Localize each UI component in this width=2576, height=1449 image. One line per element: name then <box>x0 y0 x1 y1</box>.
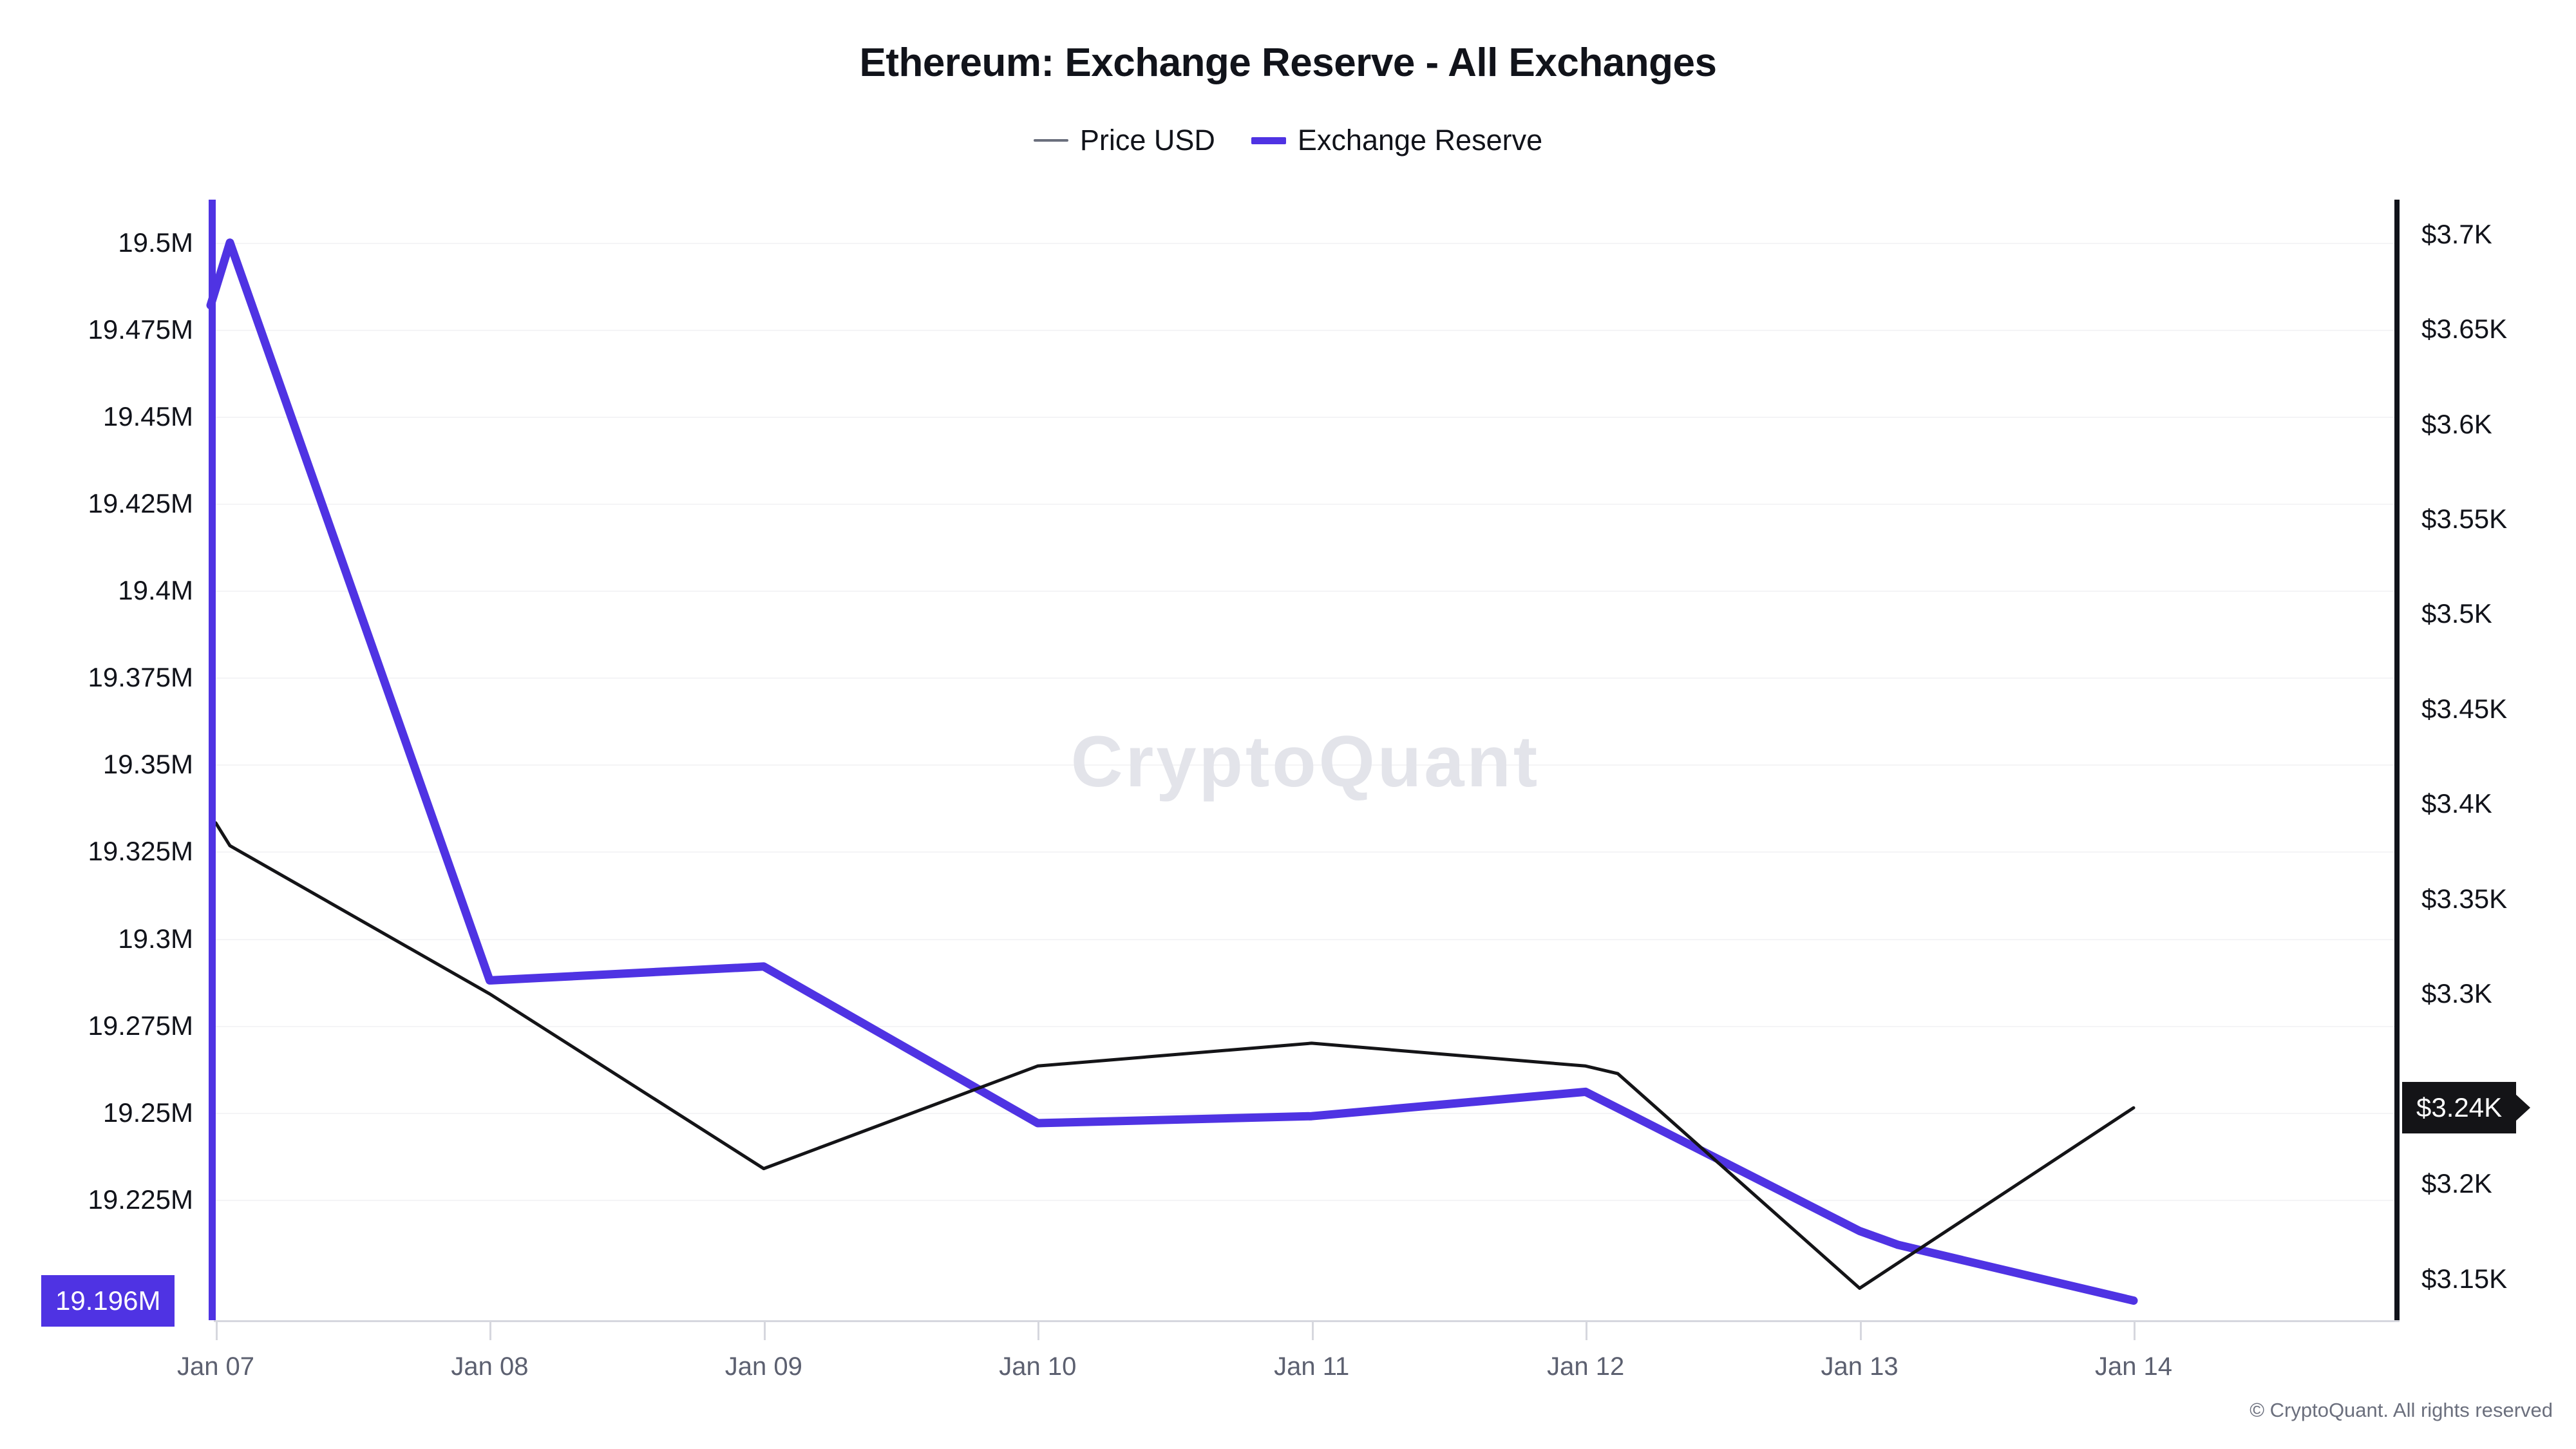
line-dash-icon <box>1034 139 1068 142</box>
y-axis-right-tick-label: $3.15K <box>2421 1264 2507 1294</box>
y-axis-left-tick-label: 19.325M <box>88 836 193 867</box>
x-axis-tick-mark <box>764 1322 766 1340</box>
x-axis-tick-mark <box>2134 1322 2136 1340</box>
y-axis-right-highlight-badge: $3.24K <box>2402 1082 2516 1133</box>
axis-left-line <box>209 200 216 1320</box>
x-axis-tick-label: Jan 08 <box>451 1352 528 1381</box>
axis-bottom-line <box>214 1320 2400 1322</box>
y-axis-right-tick-label: $3.4K <box>2421 788 2492 819</box>
x-axis-tick-mark <box>1037 1322 1039 1340</box>
y-axis-left-tick-label: 19.45M <box>103 401 193 432</box>
y-axis-left-tick-label: 19.35M <box>103 749 193 780</box>
y-axis-left-tick-label: 19.225M <box>88 1184 193 1215</box>
y-axis-right-tick-label: $3.3K <box>2421 978 2492 1009</box>
axis-right-line <box>2394 200 2400 1320</box>
chart-title: Ethereum: Exchange Reserve - All Exchang… <box>0 40 2576 86</box>
series-line-exchange-reserve <box>211 243 2134 1301</box>
badge-pointer-icon <box>2515 1094 2530 1122</box>
chart-legend: Price USD Exchange Reserve <box>0 124 2576 157</box>
y-axis-left-tick-label: 19.425M <box>88 488 193 519</box>
y-axis-left-tick-label: 19.5M <box>118 227 193 258</box>
x-axis-tick-mark <box>216 1322 218 1340</box>
y-axis-right-tick-label: $3.7K <box>2421 219 2492 250</box>
y-axis-left-highlight-badge: 19.196M <box>41 1275 175 1327</box>
series-layer <box>214 201 2397 1321</box>
y-axis-left-tick-label: 19.475M <box>88 314 193 345</box>
x-axis-tick-label: Jan 07 <box>177 1352 254 1381</box>
x-axis-tick-mark <box>489 1322 491 1340</box>
series-line-price-usd <box>216 823 2134 1289</box>
y-axis-left-tick-label: 19.275M <box>88 1010 193 1041</box>
y-axis-right-tick-label: $3.35K <box>2421 884 2507 914</box>
x-axis-tick-label: Jan 13 <box>1821 1352 1899 1381</box>
x-axis-tick-label: Jan 11 <box>1274 1352 1349 1381</box>
legend-label-exchange-reserve: Exchange Reserve <box>1298 124 1542 157</box>
x-axis-tick-mark <box>1860 1322 1862 1340</box>
x-axis-tick-label: Jan 10 <box>999 1352 1076 1381</box>
x-axis-tick-mark <box>1586 1322 1587 1340</box>
x-axis-tick-label: Jan 12 <box>1547 1352 1624 1381</box>
y-axis-left-tick-label: 19.25M <box>103 1097 193 1128</box>
y-axis-left-tick-label: 19.375M <box>88 662 193 693</box>
y-axis-right-tick-label: $3.5K <box>2421 598 2492 629</box>
y-axis-right-tick-label: $3.6K <box>2421 409 2492 440</box>
footer-copyright: © CryptoQuant. All rights reserved <box>2249 1399 2553 1422</box>
line-dash-icon <box>1251 137 1286 144</box>
plot-area: CryptoQuant <box>214 201 2397 1321</box>
y-axis-right-tick-label: $3.45K <box>2421 694 2507 724</box>
legend-item-price-usd[interactable]: Price USD <box>1034 124 1215 157</box>
y-axis-right-tick-label: $3.55K <box>2421 504 2507 535</box>
x-axis-tick-label: Jan 09 <box>725 1352 802 1381</box>
legend-label-price-usd: Price USD <box>1080 124 1215 157</box>
x-axis-tick-label: Jan 14 <box>2095 1352 2172 1381</box>
x-axis-tick-mark <box>1312 1322 1314 1340</box>
y-axis-right-tick-label: $3.65K <box>2421 314 2507 345</box>
y-axis-left-tick-label: 19.3M <box>118 923 193 954</box>
y-axis-right-tick-label: $3.2K <box>2421 1168 2492 1199</box>
y-axis-left-tick-label: 19.4M <box>118 575 193 606</box>
legend-item-exchange-reserve[interactable]: Exchange Reserve <box>1251 124 1542 157</box>
chart-root: Ethereum: Exchange Reserve - All Exchang… <box>0 0 2576 1449</box>
